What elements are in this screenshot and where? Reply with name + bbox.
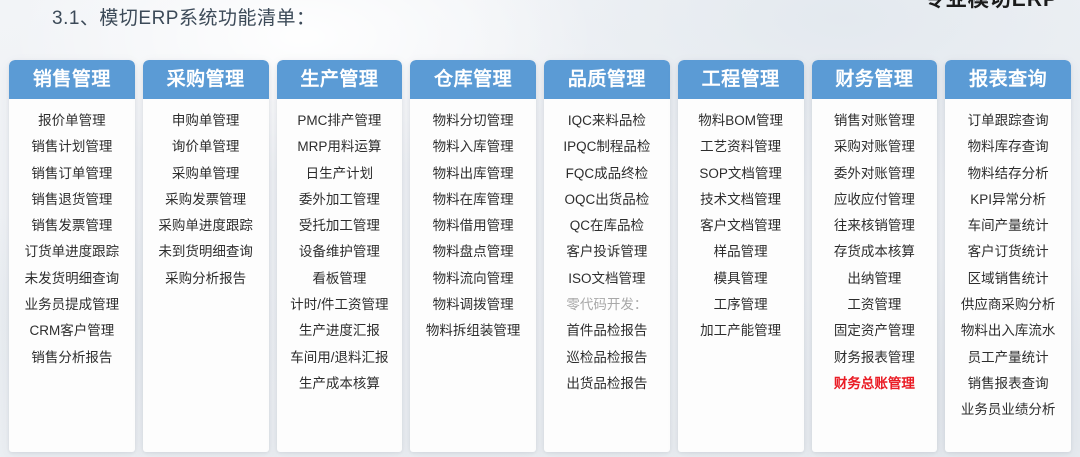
function-item[interactable]: 财务总账管理 — [834, 371, 915, 397]
function-item[interactable]: 物料借用管理 — [433, 213, 514, 239]
function-item[interactable]: 物料入库管理 — [433, 134, 514, 160]
function-item[interactable]: 看板管理 — [312, 266, 366, 292]
function-item[interactable]: KPI异常分析 — [970, 187, 1046, 213]
function-card: 采购管理申购单管理询价单管理采购单管理采购发票管理采购单进度跟踪未到货明细查询采… — [143, 60, 269, 452]
function-item[interactable]: 出纳管理 — [847, 266, 901, 292]
function-item[interactable]: 物料盘点管理 — [433, 239, 514, 265]
function-item[interactable]: 物料流向管理 — [433, 266, 514, 292]
function-card-header[interactable]: 销售管理 — [9, 60, 135, 99]
function-item[interactable]: 业务员业绩分析 — [961, 397, 1056, 423]
function-item[interactable]: 未发货明细查询 — [25, 266, 120, 292]
function-item[interactable]: 客户订货统计 — [968, 239, 1049, 265]
function-item[interactable]: 销售计划管理 — [31, 134, 112, 160]
function-item[interactable]: ISO文档管理 — [568, 266, 645, 292]
function-item[interactable]: 样品管理 — [714, 239, 768, 265]
function-item[interactable]: 计时/件工资管理 — [290, 292, 388, 318]
function-item[interactable]: 受托加工管理 — [299, 213, 380, 239]
function-item[interactable]: 业务员提成管理 — [25, 292, 120, 318]
function-item[interactable]: 模具管理 — [714, 266, 768, 292]
function-item[interactable]: 采购分析报告 — [165, 266, 246, 292]
function-item[interactable]: 物料出入库流水 — [961, 318, 1056, 344]
function-item[interactable]: 固定资产管理 — [834, 318, 915, 344]
function-card-body: 销售对账管理采购对账管理委外对账管理应收应付管理往来核销管理存货成本核算出纳管理… — [812, 99, 938, 452]
function-item[interactable]: 员工产量统计 — [968, 345, 1049, 371]
function-item[interactable]: IPQC制程品检 — [563, 134, 650, 160]
function-card: 销售管理报价单管理销售计划管理销售订单管理销售退货管理销售发票管理订货单进度跟踪… — [9, 60, 135, 452]
function-item[interactable]: FQC成品终检 — [566, 161, 649, 187]
function-item[interactable]: 采购对账管理 — [834, 134, 915, 160]
function-item[interactable]: 出货品检报告 — [566, 371, 647, 397]
function-card: 品质管理IQC来料品检IPQC制程品检FQC成品终检OQC出货品检QC在库品检客… — [544, 60, 670, 452]
function-item[interactable]: 报价单管理 — [38, 108, 106, 134]
function-item[interactable]: 物料库存查询 — [968, 134, 1049, 160]
function-card: 报表查询订单跟踪查询物料库存查询物料结存分析KPI异常分析车间产量统计客户订货统… — [945, 60, 1071, 452]
function-item[interactable]: 车间用/退料汇报 — [290, 345, 388, 371]
function-item[interactable]: MRP用料运算 — [297, 134, 381, 160]
function-item[interactable]: 财务报表管理 — [834, 345, 915, 371]
function-card-header[interactable]: 仓库管理 — [410, 60, 536, 99]
function-card-body: 物料BOM管理工艺资料管理SOP文档管理技术文档管理客户文档管理样品管理模具管理… — [678, 99, 804, 452]
function-item[interactable]: 技术文档管理 — [700, 187, 781, 213]
function-item[interactable]: 生产进度汇报 — [299, 318, 380, 344]
function-item[interactable]: 工序管理 — [714, 292, 768, 318]
function-card-body: IQC来料品检IPQC制程品检FQC成品终检OQC出货品检QC在库品检客户投诉管… — [544, 99, 670, 452]
function-card-header[interactable]: 生产管理 — [277, 60, 403, 99]
function-card-header[interactable]: 报表查询 — [945, 60, 1071, 99]
function-item[interactable]: 委外对账管理 — [834, 161, 915, 187]
function-card-row: 销售管理报价单管理销售计划管理销售订单管理销售退货管理销售发票管理订货单进度跟踪… — [9, 60, 1071, 452]
function-item[interactable]: 设备维护管理 — [299, 239, 380, 265]
function-item[interactable]: 车间产量统计 — [968, 213, 1049, 239]
function-item[interactable]: 加工产能管理 — [700, 318, 781, 344]
function-card-body: 申购单管理询价单管理采购单管理采购发票管理采购单进度跟踪未到货明细查询采购分析报… — [143, 99, 269, 452]
function-item[interactable]: 物料在库管理 — [433, 187, 514, 213]
function-item[interactable]: CRM客户管理 — [30, 318, 115, 344]
function-card-body: PMC排产管理MRP用料运算日生产计划委外加工管理受托加工管理设备维护管理看板管… — [277, 99, 403, 452]
function-item[interactable]: 申购单管理 — [172, 108, 240, 134]
function-item[interactable]: 销售退货管理 — [31, 187, 112, 213]
function-item[interactable]: 销售分析报告 — [31, 345, 112, 371]
function-item[interactable]: 销售对账管理 — [834, 108, 915, 134]
function-item[interactable]: 订货单进度跟踪 — [25, 239, 120, 265]
function-item[interactable]: 物料拆组装管理 — [426, 318, 521, 344]
function-item[interactable]: 生产成本核算 — [299, 371, 380, 397]
function-item[interactable]: 巡检品检报告 — [566, 345, 647, 371]
function-item[interactable]: 物料出库管理 — [433, 161, 514, 187]
function-item[interactable]: 采购发票管理 — [165, 187, 246, 213]
slide-root: 专业模切ERP 3.1、模切ERP系统功能清单： 销售管理报价单管理销售计划管理… — [0, 0, 1080, 457]
function-item[interactable]: 首件品检报告 — [566, 318, 647, 344]
page-title: 3.1、模切ERP系统功能清单： — [52, 3, 315, 30]
function-item[interactable]: 物料分切管理 — [433, 108, 514, 134]
function-item[interactable]: 存货成本核算 — [834, 239, 915, 265]
function-item[interactable]: 销售发票管理 — [31, 213, 112, 239]
function-item[interactable]: SOP文档管理 — [699, 161, 782, 187]
function-item[interactable]: 往来核销管理 — [834, 213, 915, 239]
function-item[interactable]: 委外加工管理 — [299, 187, 380, 213]
function-card: 生产管理PMC排产管理MRP用料运算日生产计划委外加工管理受托加工管理设备维护管… — [277, 60, 403, 452]
function-item[interactable]: 物料BOM管理 — [698, 108, 783, 134]
function-item[interactable]: 供应商采购分析 — [961, 292, 1056, 318]
function-item[interactable]: IQC来料品检 — [568, 108, 646, 134]
function-item[interactable]: 询价单管理 — [172, 134, 240, 160]
function-item[interactable]: 物料结存分析 — [968, 161, 1049, 187]
function-item[interactable]: 客户投诉管理 — [566, 239, 647, 265]
function-group-label: 零代码开发： — [566, 292, 647, 318]
function-card-header[interactable]: 品质管理 — [544, 60, 670, 99]
function-item[interactable]: 工资管理 — [847, 292, 901, 318]
function-item[interactable]: OQC出货品检 — [564, 187, 649, 213]
function-item[interactable]: 采购单管理 — [172, 161, 240, 187]
function-item[interactable]: QC在库品检 — [570, 213, 644, 239]
function-card-body: 报价单管理销售计划管理销售订单管理销售退货管理销售发票管理订货单进度跟踪未发货明… — [9, 99, 135, 452]
function-item[interactable]: 订单跟踪查询 — [968, 108, 1049, 134]
function-card-header[interactable]: 财务管理 — [812, 60, 938, 99]
function-item[interactable]: 工艺资料管理 — [700, 134, 781, 160]
function-item[interactable]: PMC排产管理 — [297, 108, 381, 134]
function-item[interactable]: 销售报表查询 — [968, 371, 1049, 397]
function-item[interactable]: 日生产计划 — [306, 161, 374, 187]
function-item[interactable]: 采购单进度跟踪 — [158, 213, 253, 239]
function-item[interactable]: 客户文档管理 — [700, 213, 781, 239]
function-item[interactable]: 区域销售统计 — [968, 266, 1049, 292]
function-card: 工程管理物料BOM管理工艺资料管理SOP文档管理技术文档管理客户文档管理样品管理… — [678, 60, 804, 452]
function-card: 财务管理销售对账管理采购对账管理委外对账管理应收应付管理往来核销管理存货成本核算… — [812, 60, 938, 452]
function-card-body: 物料分切管理物料入库管理物料出库管理物料在库管理物料借用管理物料盘点管理物料流向… — [410, 99, 536, 452]
function-item[interactable]: 销售订单管理 — [31, 161, 112, 187]
function-card-header[interactable]: 工程管理 — [678, 60, 804, 99]
function-card-header[interactable]: 采购管理 — [143, 60, 269, 99]
function-item[interactable]: 物料调拨管理 — [433, 292, 514, 318]
function-card-body: 订单跟踪查询物料库存查询物料结存分析KPI异常分析车间产量统计客户订货统计区域销… — [945, 99, 1071, 452]
function-item[interactable]: 应收应付管理 — [834, 187, 915, 213]
function-item[interactable]: 未到货明细查询 — [158, 239, 253, 265]
function-card: 仓库管理物料分切管理物料入库管理物料出库管理物料在库管理物料借用管理物料盘点管理… — [410, 60, 536, 452]
clipped-top-heading: 专业模切ERP — [924, 0, 1058, 13]
